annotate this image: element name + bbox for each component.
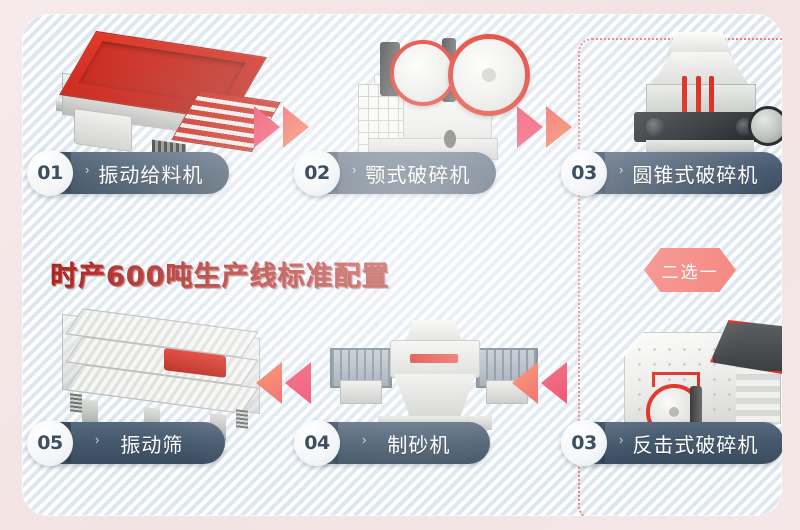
chevron-left-icon (256, 362, 282, 404)
step-text-03-impact: 反击式破碎机 (632, 429, 758, 458)
chevron-right-icon: › (362, 433, 366, 446)
step-pill-body-02: › 颚式破碎机 (322, 152, 496, 194)
chevron-right-icon: › (85, 163, 89, 176)
step-label-01[interactable]: 01 › 振动给料机 (27, 152, 229, 194)
screen-spring-left (70, 393, 82, 412)
step-text-04: 制砂机 (387, 429, 450, 458)
step-number-05: 05 (27, 420, 73, 466)
chevron-right-icon: › (619, 433, 623, 446)
chevron-left-icon (512, 362, 538, 404)
jaw-flywheel-front (448, 34, 530, 116)
choose-one-badge: 二选一 (644, 248, 736, 292)
chevron-right-icon (283, 106, 309, 148)
arrow-sand-to-screen (256, 362, 311, 404)
sand-brand-stripe (410, 354, 458, 363)
step-text-01: 振动给料机 (98, 159, 203, 188)
step-pill-body-03-impact: › 反击式破碎机 (589, 422, 782, 464)
chevron-right-icon (517, 106, 543, 148)
jaw-discharge-port (444, 130, 456, 148)
feeder-motor (74, 108, 132, 152)
arrow-feeder-to-jaw (254, 106, 309, 148)
step-label-05[interactable]: 05 › 振动筛 (27, 422, 225, 464)
page-title: 时产600吨生产线标准配置 (50, 254, 389, 293)
step-pill-body-01: › 振动给料机 (55, 152, 229, 194)
step-label-02[interactable]: 02 › 颚式破碎机 (294, 152, 496, 194)
arrow-impact-to-sand (512, 362, 567, 404)
step-label-04[interactable]: 04 › 制砂机 (294, 422, 490, 464)
step-label-03-impact[interactable]: 03 › 反击式破碎机 (561, 422, 782, 464)
chevron-right-icon (546, 106, 572, 148)
step-pill-body-05: › 振动筛 (55, 422, 225, 464)
step-number-01: 01 (27, 150, 73, 196)
sand-motor-left (340, 380, 382, 404)
cone-base-housing (634, 112, 766, 142)
jaw-flywheel-rear (390, 40, 456, 106)
step-number-04: 04 (294, 420, 340, 466)
step-label-03-cone[interactable]: 03 › 圆锥式破碎机 (561, 152, 782, 194)
step-pill-body-04: › 制砂机 (322, 422, 490, 464)
step-text-05: 振动筛 (120, 429, 183, 458)
striped-panel: 二选一 时产600吨生产线标准配置 01 › 振动给料机 02 › 颚式破碎机 … (22, 14, 782, 516)
sand-feed-hopper (406, 320, 462, 342)
step-pill-body-03-cone: › 圆锥式破碎机 (589, 152, 782, 194)
flow-diagram-canvas: 二选一 时产600吨生产线标准配置 01 › 振动给料机 02 › 颚式破碎机 … (0, 0, 800, 530)
step-number-03-impact: 03 (561, 420, 607, 466)
step-text-03-cone: 圆锥式破碎机 (632, 159, 758, 188)
chevron-left-icon (285, 362, 311, 404)
machine-cone-crusher (620, 32, 782, 172)
step-text-02: 颚式破碎机 (365, 159, 470, 188)
machine-vibrating-feeder (56, 38, 272, 168)
chevron-right-icon (254, 106, 280, 148)
sand-discharge-cone (394, 374, 476, 419)
step-number-03-cone: 03 (561, 150, 607, 196)
machine-vibrating-screen (60, 314, 272, 439)
chevron-right-icon: › (352, 163, 356, 176)
chevron-left-icon (541, 362, 567, 404)
choose-one-label: 二选一 (662, 258, 719, 283)
screen-spring-right (236, 409, 248, 428)
machine-jaw-crusher (352, 30, 532, 170)
chevron-right-icon: › (95, 433, 99, 446)
chevron-right-icon: › (619, 163, 623, 176)
arrow-jaw-to-cone (517, 106, 572, 148)
step-number-02: 02 (294, 150, 340, 196)
